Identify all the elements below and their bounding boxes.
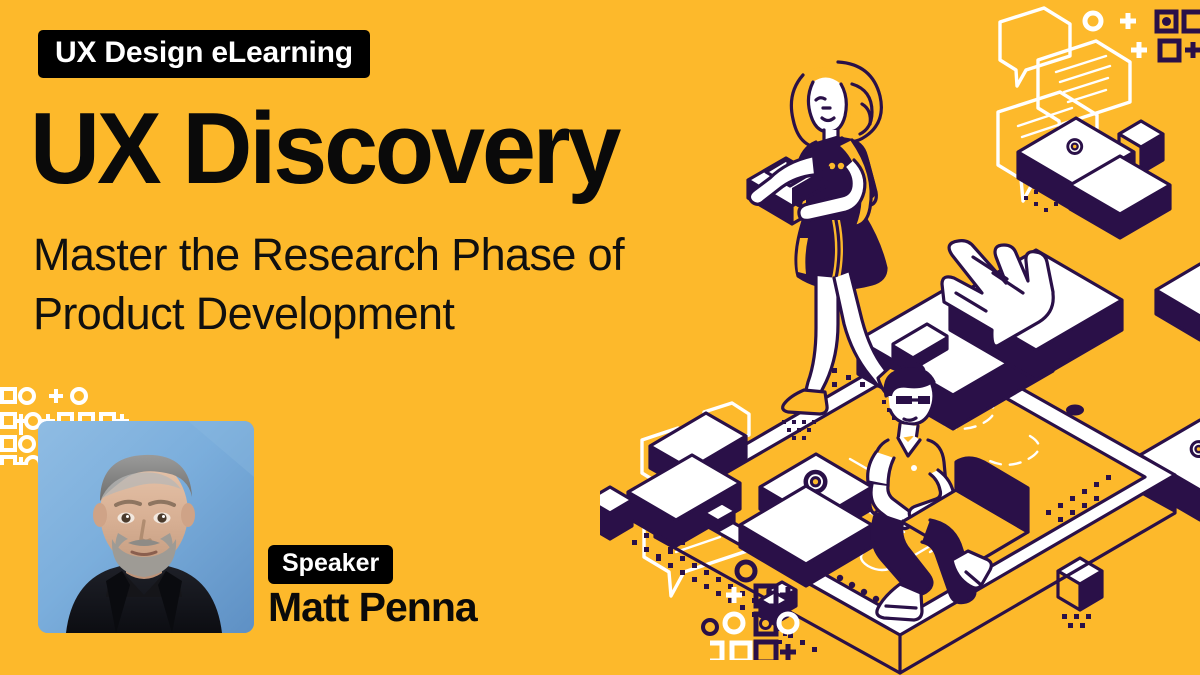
- subtitle-line-2: Product Development: [33, 284, 624, 343]
- speaker-portrait: [38, 421, 254, 633]
- subtitle-line-1: Master the Research Phase of: [33, 225, 624, 284]
- isometric-illustration: .d{fill:#2A1048} .w{fill:#FFFFFF} .y{fil…: [600, 0, 1200, 675]
- webinar-banner: .d{fill:#2A1048} .w{fill:#FFFFFF} .y{fil…: [0, 0, 1200, 675]
- page-title: UX Discovery: [30, 96, 618, 202]
- box-right-edge: [1156, 264, 1200, 340]
- speaker-badge: Speaker: [268, 545, 393, 584]
- subtitle: Master the Research Phase of Product Dev…: [33, 225, 624, 344]
- speaker-name: Matt Penna: [268, 585, 477, 630]
- decor-pattern-top-right: [1060, 4, 1200, 74]
- decor-pattern-bottom-right: [710, 555, 840, 660]
- kicker-badge: UX Design eLearning: [38, 30, 370, 78]
